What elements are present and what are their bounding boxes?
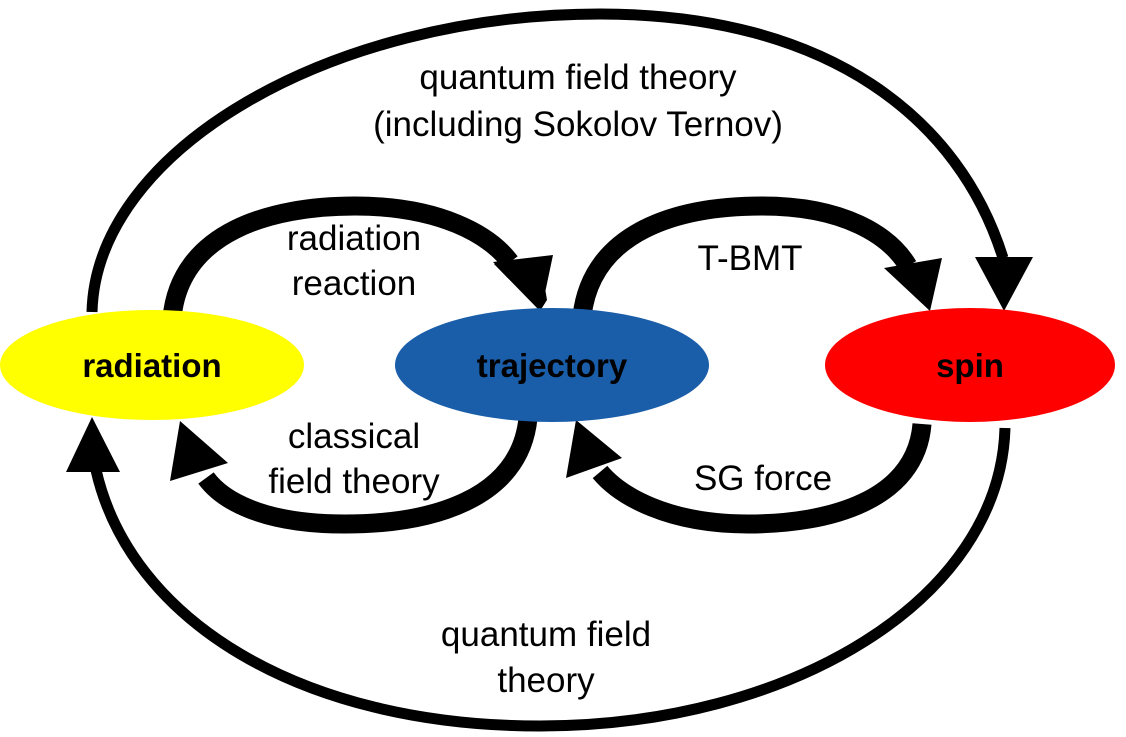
edge-radiation-to-spin-arrowhead bbox=[975, 257, 1033, 311]
node-trajectory-label: trajectory bbox=[477, 347, 628, 384]
edge-label-trajectory-to-spin: T-BMT bbox=[698, 239, 803, 278]
edge-label-spin-to-trajectory: SG force bbox=[694, 459, 832, 498]
edge-label-trajectory-to-spin-line-1: T-BMT bbox=[698, 239, 803, 278]
edge-label-spin-to-radiation-line-1: quantum field bbox=[441, 615, 651, 654]
edge-label-trajectory-to-radiation-line-1: classical bbox=[288, 417, 420, 456]
edge-label-spin-to-radiation-line-2: theory bbox=[497, 661, 595, 700]
edge-label-trajectory-to-radiation: classical field theory bbox=[268, 417, 440, 501]
node-spin[interactable]: spin bbox=[825, 308, 1115, 422]
node-spin-label: spin bbox=[936, 347, 1004, 384]
diagram-canvas: radiation trajectory spin quantum field … bbox=[0, 0, 1126, 737]
edge-label-radiation-to-spin-line-1: quantum field theory bbox=[419, 58, 737, 97]
node-radiation[interactable]: radiation bbox=[0, 310, 304, 420]
edge-label-spin-to-trajectory-line-1: SG force bbox=[694, 459, 832, 498]
edge-label-radiation-to-spin-line-2: (including Sokolov Ternov) bbox=[373, 105, 783, 144]
edge-trajectory-to-spin-arrowhead bbox=[884, 258, 942, 311]
edge-spin-to-trajectory-arrowhead bbox=[566, 420, 622, 478]
edge-label-spin-to-radiation: quantum field theory bbox=[441, 615, 651, 700]
edge-label-radiation-to-trajectory-line-1: radiation bbox=[287, 219, 421, 258]
edge-label-radiation-to-trajectory-line-2: reaction bbox=[292, 264, 417, 303]
interaction-diagram: radiation trajectory spin quantum field … bbox=[0, 0, 1126, 737]
node-radiation-label: radiation bbox=[82, 347, 221, 384]
edge-trajectory-to-radiation-arrowhead bbox=[170, 421, 228, 481]
edge-label-radiation-to-trajectory: radiation reaction bbox=[287, 219, 421, 303]
edge-label-trajectory-to-radiation-line-2: field theory bbox=[268, 462, 440, 501]
edge-label-radiation-to-spin: quantum field theory (including Sokolov … bbox=[373, 58, 783, 144]
node-trajectory[interactable]: trajectory bbox=[395, 308, 709, 422]
edge-spin-to-radiation-arrowhead bbox=[66, 417, 120, 472]
